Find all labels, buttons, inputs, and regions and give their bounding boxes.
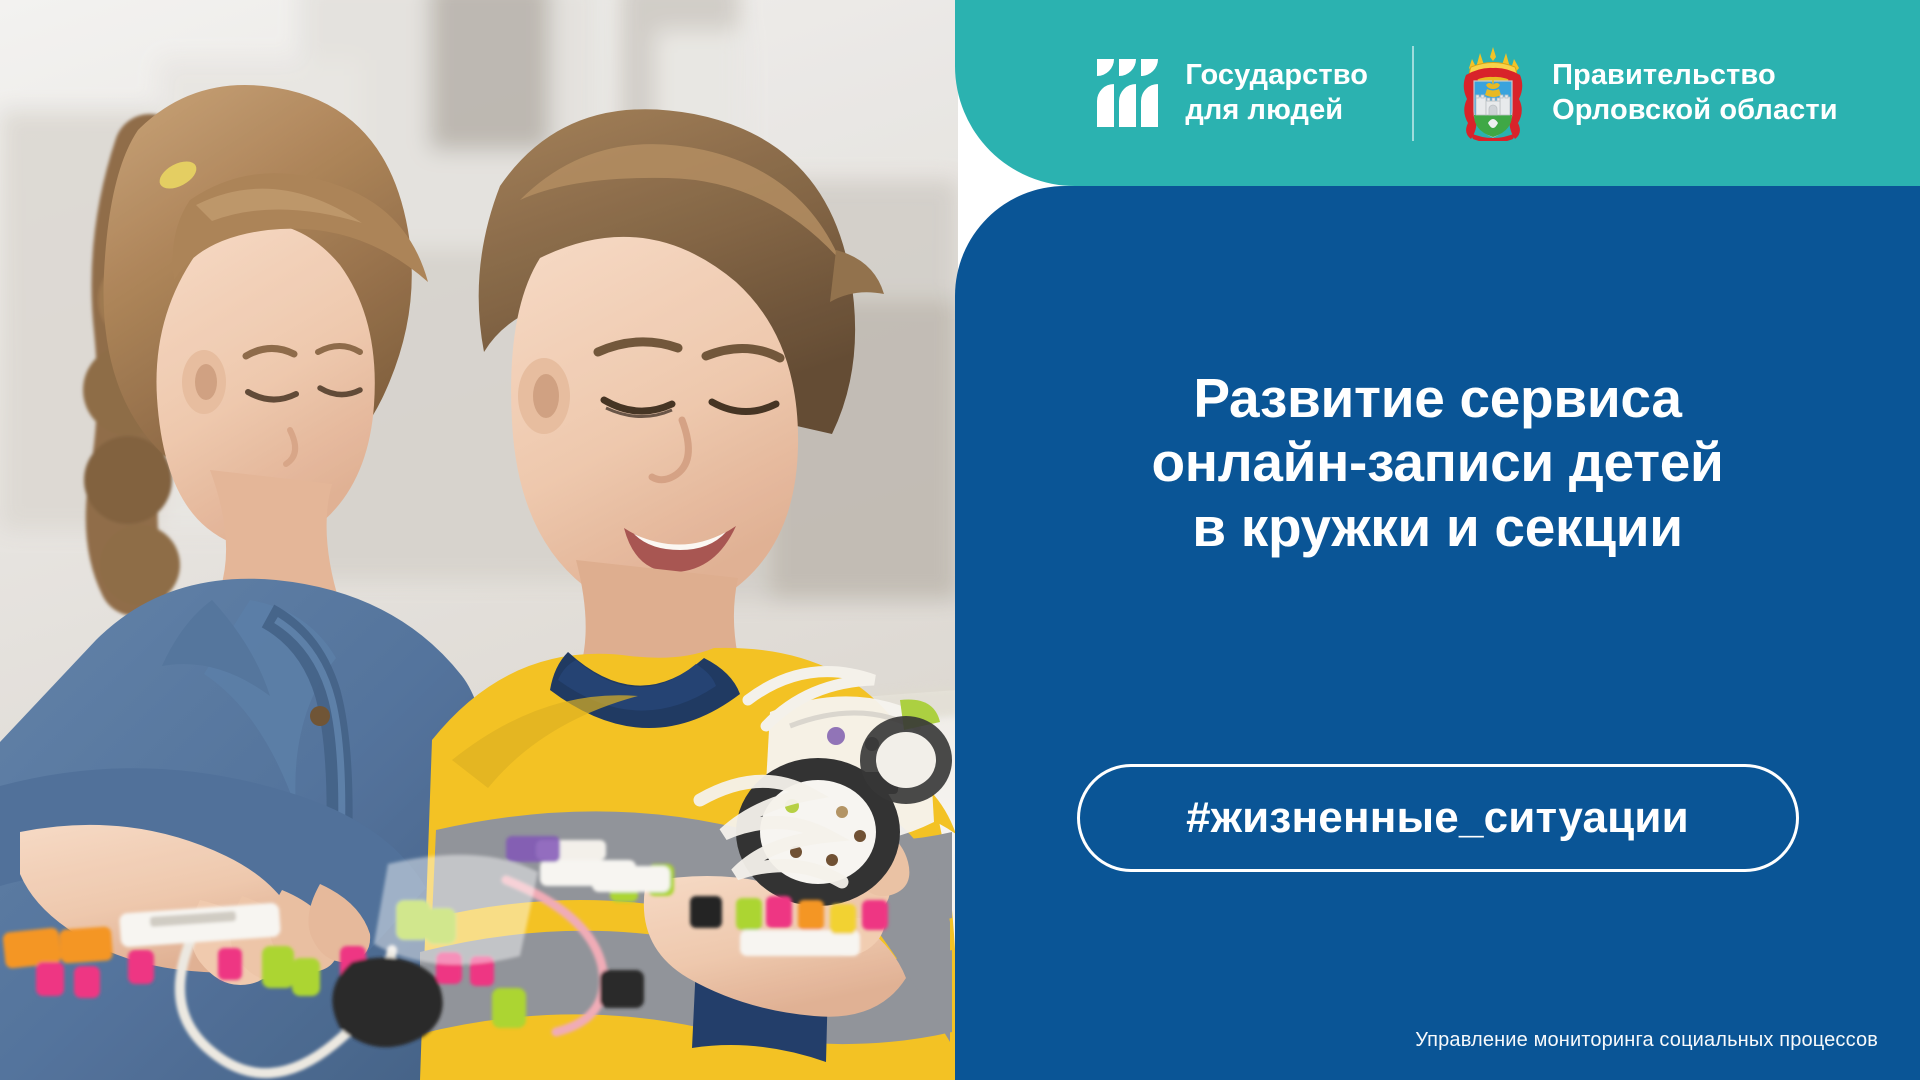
brand-row: Государство для людей [955,0,1920,186]
brand-header-bar: Государство для людей [955,0,1920,186]
gosuslugi-brand-text: Государство для людей [1185,58,1368,128]
photo-illustration [0,0,958,1080]
content-panel: Развитие сервиса онлайн-записи детей в к… [955,186,1920,1080]
banner-root: Государство для людей [0,0,1920,1080]
orel-oblast-coat-of-arms [1458,45,1528,141]
children-robotics-photo [0,0,958,1080]
government-brand-logo[interactable]: Правительство Орловской области [1458,45,1838,141]
government-brand-text: Правительство Орловской области [1552,58,1838,128]
logo-divider [1412,46,1414,141]
page-title: Развитие сервиса онлайн-записи детей в к… [955,366,1920,559]
hashtag-button[interactable]: #жизненные_ситуации [1077,764,1799,872]
gosuslugi-brand-logo[interactable]: Государство для людей [1097,57,1368,129]
gosuslugi-flags-mark [1097,57,1159,129]
department-footnote: Управление мониторинга социальных процес… [1415,1029,1878,1052]
